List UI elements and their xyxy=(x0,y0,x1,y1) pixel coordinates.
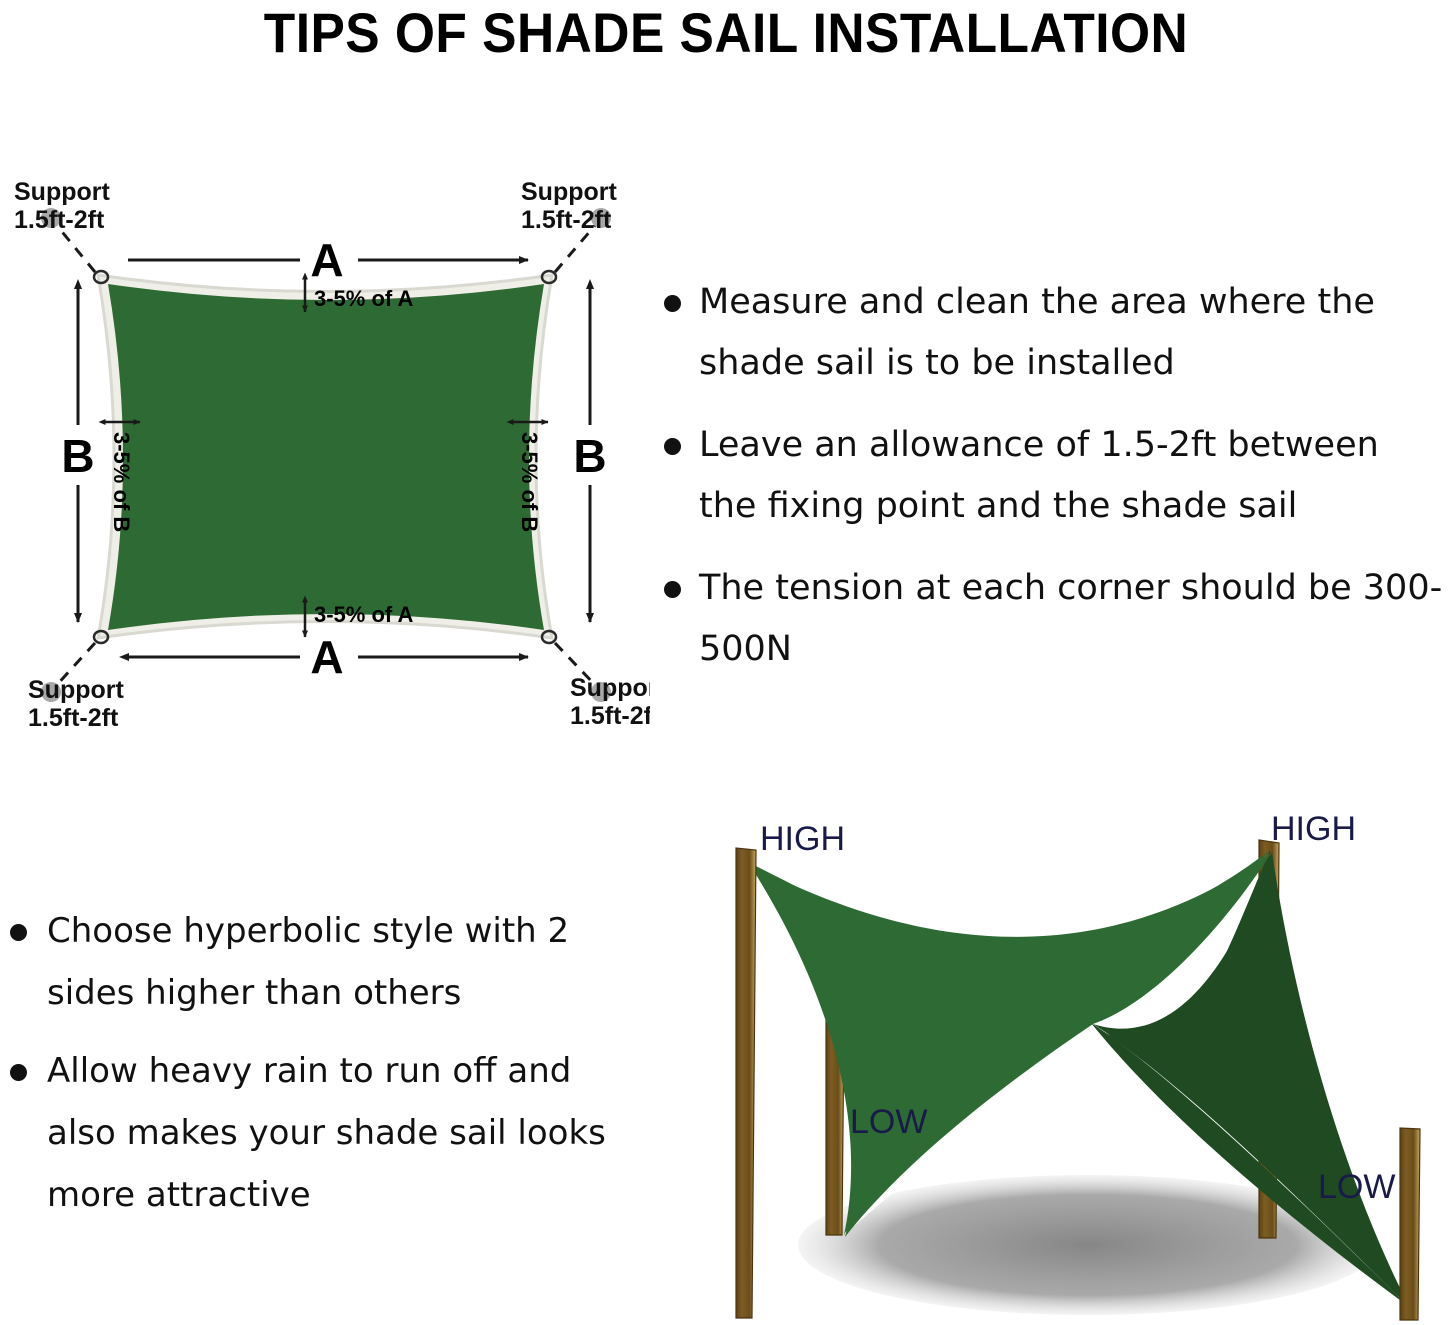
label-high-right: HIGH xyxy=(1271,810,1356,848)
support-label-top-left: Support 1.5ft-2ft xyxy=(14,178,110,234)
list-item-text: Allow heavy rain to run off and also mak… xyxy=(47,1051,606,1215)
hyperbolic-sail-diagram: HIGH HIGH LOW LOW xyxy=(648,788,1452,1325)
bullet-dot-icon xyxy=(10,1064,27,1081)
list-item: Allow heavy rain to run off and also mak… xyxy=(4,1040,614,1226)
installation-tips-list: Measure and clean the area where the sha… xyxy=(655,272,1445,701)
dim-label-left-b: B xyxy=(61,430,94,482)
bullet-dot-icon xyxy=(10,924,27,941)
support-label-bottom-right: Support 1.5ft-2ft xyxy=(570,674,650,730)
page-title: TIPS OF SHADE SAIL INSTALLATION xyxy=(58,0,1394,64)
bullet-dot-icon xyxy=(664,438,681,455)
curve-label-top: 3-5% of A xyxy=(314,286,414,311)
list-item-text: Leave an allowance of 1.5-2ft between th… xyxy=(699,425,1379,526)
label-high-left: HIGH xyxy=(760,820,845,858)
list-item: The tension at each corner should be 300… xyxy=(655,558,1445,680)
list-item-text: Choose hyperbolic style with 2 sides hig… xyxy=(47,911,569,1013)
dim-label-top-a: A xyxy=(310,234,343,286)
curve-label-bottom: 3-5% of A xyxy=(314,602,414,627)
sail-body xyxy=(108,284,544,630)
list-item: Leave an allowance of 1.5-2ft between th… xyxy=(655,415,1445,537)
curve-label-right: 3-5% of B xyxy=(517,432,542,532)
curve-label-left: 3-5% of B xyxy=(109,432,134,532)
pole-low-right xyxy=(1400,1128,1420,1320)
bullet-dot-icon xyxy=(664,581,681,598)
list-item-text: Measure and clean the area where the sha… xyxy=(699,282,1375,383)
label-low-right: LOW xyxy=(1318,1168,1395,1206)
support-label-bottom-right-line2: 1.5ft-2ft xyxy=(570,702,650,730)
support-label-bottom-right-line1: Support xyxy=(570,674,650,702)
list-item: Choose hyperbolic style with 2 sides hig… xyxy=(4,900,614,1024)
support-label-bottom-left: Support 1.5ft-2ft xyxy=(28,676,124,730)
hyperbolic-style-tips-list: Choose hyperbolic style with 2 sides hig… xyxy=(4,900,614,1242)
support-label-bottom-left-line1: Support xyxy=(28,676,124,704)
pole-high-left xyxy=(736,848,756,1318)
support-label-top-right-line2: 1.5ft-2ft xyxy=(521,206,612,234)
support-label-top-right-line1: Support xyxy=(521,178,617,206)
support-label-bottom-left-line2: 1.5ft-2ft xyxy=(28,704,119,730)
dim-label-right-b: B xyxy=(573,430,606,482)
support-label-top-right: Support 1.5ft-2ft xyxy=(521,178,617,234)
support-label-top-left-line2: 1.5ft-2ft xyxy=(14,206,105,234)
support-label-top-left-line1: Support xyxy=(14,178,110,206)
dim-label-bottom-a: A xyxy=(310,631,343,683)
label-low-left: LOW xyxy=(850,1103,927,1141)
list-item: Measure and clean the area where the sha… xyxy=(655,272,1445,394)
bullet-dot-icon xyxy=(664,295,681,312)
shade-sail-installation-infographic: TIPS OF SHADE SAIL INSTALLATION xyxy=(0,0,1452,1325)
rect-sail-diagram: A A B B 3-5% of A 3-5% of A 3-5% of B xyxy=(0,160,650,730)
list-item-text: The tension at each corner should be 300… xyxy=(699,568,1442,669)
